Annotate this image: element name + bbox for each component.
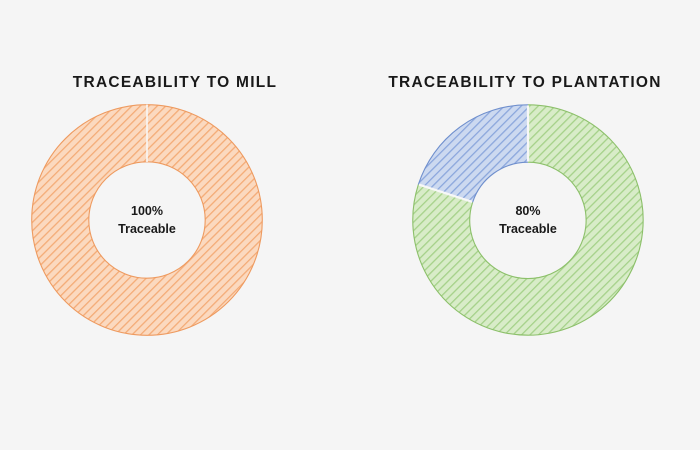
donut-svg-mill bbox=[31, 104, 263, 336]
chart-title-mill: TRACEABILITY TO MILL bbox=[0, 74, 350, 92]
chart-canvas: TRACEABILITY TO MILL bbox=[0, 0, 700, 450]
donut-svg-plantation bbox=[412, 104, 644, 336]
donut-chart-mill: 100% Traceable bbox=[31, 104, 263, 336]
chart-panel-plantation: TRACEABILITY TO PLANTATION bbox=[350, 0, 700, 450]
chart-title-plantation: TRACEABILITY TO PLANTATION bbox=[350, 74, 700, 92]
chart-panel-mill: TRACEABILITY TO MILL bbox=[0, 0, 350, 450]
donut-chart-plantation: 80% Traceable bbox=[412, 104, 644, 336]
